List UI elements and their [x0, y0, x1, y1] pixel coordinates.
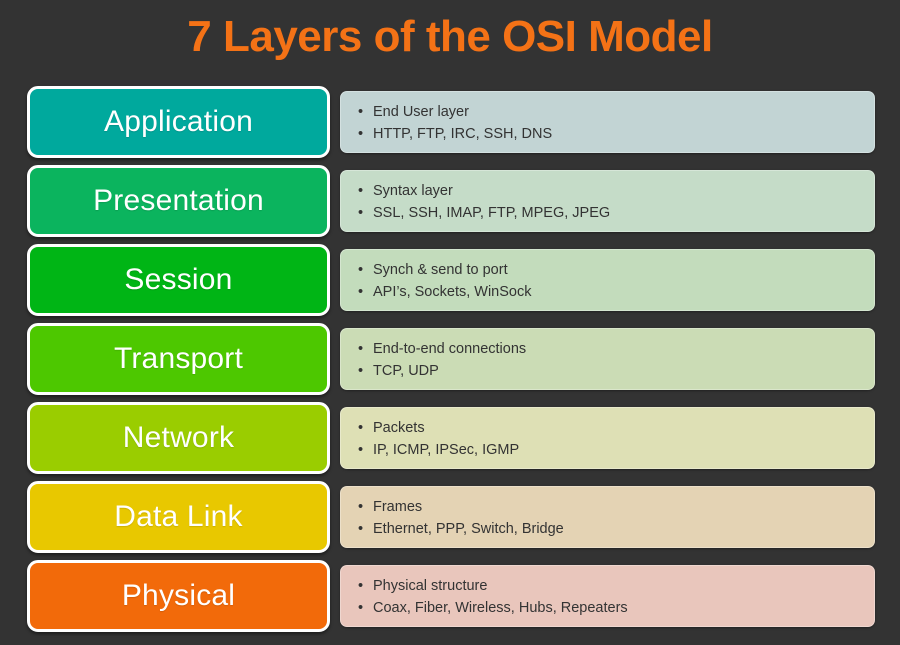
layer-pill-label: Application [104, 107, 253, 137]
bullet-icon: • [358, 259, 363, 281]
layer-description-bullet: •TCP, UDP [357, 360, 874, 382]
layer-description-panel: •Packets•IP, ICMP, IPSec, IGMP [340, 407, 875, 469]
layer-description-bullet: •End-to-end connections [357, 338, 874, 360]
bullet-icon: • [358, 281, 363, 303]
layer-pill-label: Physical [122, 581, 235, 611]
osi-layer-row: Session•Synch & send to port•API’s, Sock… [0, 244, 900, 322]
osi-layer-row: Physical•Physical structure•Coax, Fiber,… [0, 560, 900, 638]
layer-description-text: SSL, SSH, IMAP, FTP, MPEG, JPEG [373, 205, 610, 221]
bullet-icon: • [358, 439, 363, 461]
bullet-icon: • [358, 338, 363, 360]
bullet-icon: • [358, 496, 363, 518]
bullet-icon: • [358, 202, 363, 224]
layer-description-bullet: •IP, ICMP, IPSec, IGMP [357, 439, 874, 461]
layer-pill-session[interactable]: Session [27, 244, 330, 316]
bullet-icon: • [358, 360, 363, 382]
layer-description-text: End-to-end connections [373, 341, 526, 357]
osi-layer-row: Data Link•Frames•Ethernet, PPP, Switch, … [0, 481, 900, 559]
layer-description-panel: •Syntax layer•SSL, SSH, IMAP, FTP, MPEG,… [340, 170, 875, 232]
layer-description-bullet: •Packets [357, 417, 874, 439]
layer-description-text: Coax, Fiber, Wireless, Hubs, Repeaters [373, 600, 628, 616]
layer-description-bullet: •Syntax layer [357, 180, 874, 202]
layer-description-text: Packets [373, 420, 425, 436]
layer-description-bullet: •SSL, SSH, IMAP, FTP, MPEG, JPEG [357, 202, 874, 224]
layer-description-text: Ethernet, PPP, Switch, Bridge [373, 521, 564, 537]
bullet-icon: • [358, 575, 363, 597]
layer-description-text: Frames [373, 499, 422, 515]
layer-pill-data-link[interactable]: Data Link [27, 481, 330, 553]
osi-layer-row: Presentation•Syntax layer•SSL, SSH, IMAP… [0, 165, 900, 243]
layer-description-bullet: •Physical structure [357, 575, 874, 597]
osi-model-diagram: 7 Layers of the OSI Model Application•En… [0, 0, 900, 645]
osi-layer-row: Transport•End-to-end connections•TCP, UD… [0, 323, 900, 401]
layer-pill-label: Presentation [93, 186, 264, 216]
layer-description-text: Physical structure [373, 578, 487, 594]
page-title: 7 Layers of the OSI Model [0, 12, 900, 62]
osi-layer-row: Application•End User layer•HTTP, FTP, IR… [0, 86, 900, 164]
layer-pill-presentation[interactable]: Presentation [27, 165, 330, 237]
bullet-icon: • [358, 101, 363, 123]
layer-pill-label: Transport [114, 344, 243, 374]
layer-description-text: Synch & send to port [373, 262, 508, 278]
layer-description-text: End User layer [373, 104, 469, 120]
layer-description-text: API’s, Sockets, WinSock [373, 284, 531, 300]
layer-pill-transport[interactable]: Transport [27, 323, 330, 395]
layer-description-bullet: •API’s, Sockets, WinSock [357, 281, 874, 303]
layer-pill-physical[interactable]: Physical [27, 560, 330, 632]
layer-description-text: IP, ICMP, IPSec, IGMP [373, 442, 519, 458]
layer-description-bullet: •Coax, Fiber, Wireless, Hubs, Repeaters [357, 597, 874, 619]
layer-pill-label: Session [124, 265, 232, 295]
layer-description-bullet: •HTTP, FTP, IRC, SSH, DNS [357, 123, 874, 145]
layer-description-text: HTTP, FTP, IRC, SSH, DNS [373, 126, 552, 142]
layer-description-bullet: •Frames [357, 496, 874, 518]
bullet-icon: • [358, 417, 363, 439]
layer-pill-label: Network [123, 423, 234, 453]
bullet-icon: • [358, 123, 363, 145]
bullet-icon: • [358, 180, 363, 202]
osi-layer-row: Network•Packets•IP, ICMP, IPSec, IGMP [0, 402, 900, 480]
bullet-icon: • [358, 518, 363, 540]
layer-description-text: TCP, UDP [373, 363, 439, 379]
layer-description-bullet: •Ethernet, PPP, Switch, Bridge [357, 518, 874, 540]
osi-layer-list: Application•End User layer•HTTP, FTP, IR… [0, 86, 900, 639]
layer-pill-application[interactable]: Application [27, 86, 330, 158]
layer-pill-label: Data Link [114, 502, 243, 532]
layer-pill-network[interactable]: Network [27, 402, 330, 474]
layer-description-panel: •Frames•Ethernet, PPP, Switch, Bridge [340, 486, 875, 548]
layer-description-text: Syntax layer [373, 183, 453, 199]
bullet-icon: • [358, 597, 363, 619]
layer-description-panel: •Synch & send to port•API’s, Sockets, Wi… [340, 249, 875, 311]
layer-description-bullet: •End User layer [357, 101, 874, 123]
layer-description-bullet: •Synch & send to port [357, 259, 874, 281]
layer-description-panel: •End-to-end connections•TCP, UDP [340, 328, 875, 390]
layer-description-panel: •End User layer•HTTP, FTP, IRC, SSH, DNS [340, 91, 875, 153]
layer-description-panel: •Physical structure•Coax, Fiber, Wireles… [340, 565, 875, 627]
